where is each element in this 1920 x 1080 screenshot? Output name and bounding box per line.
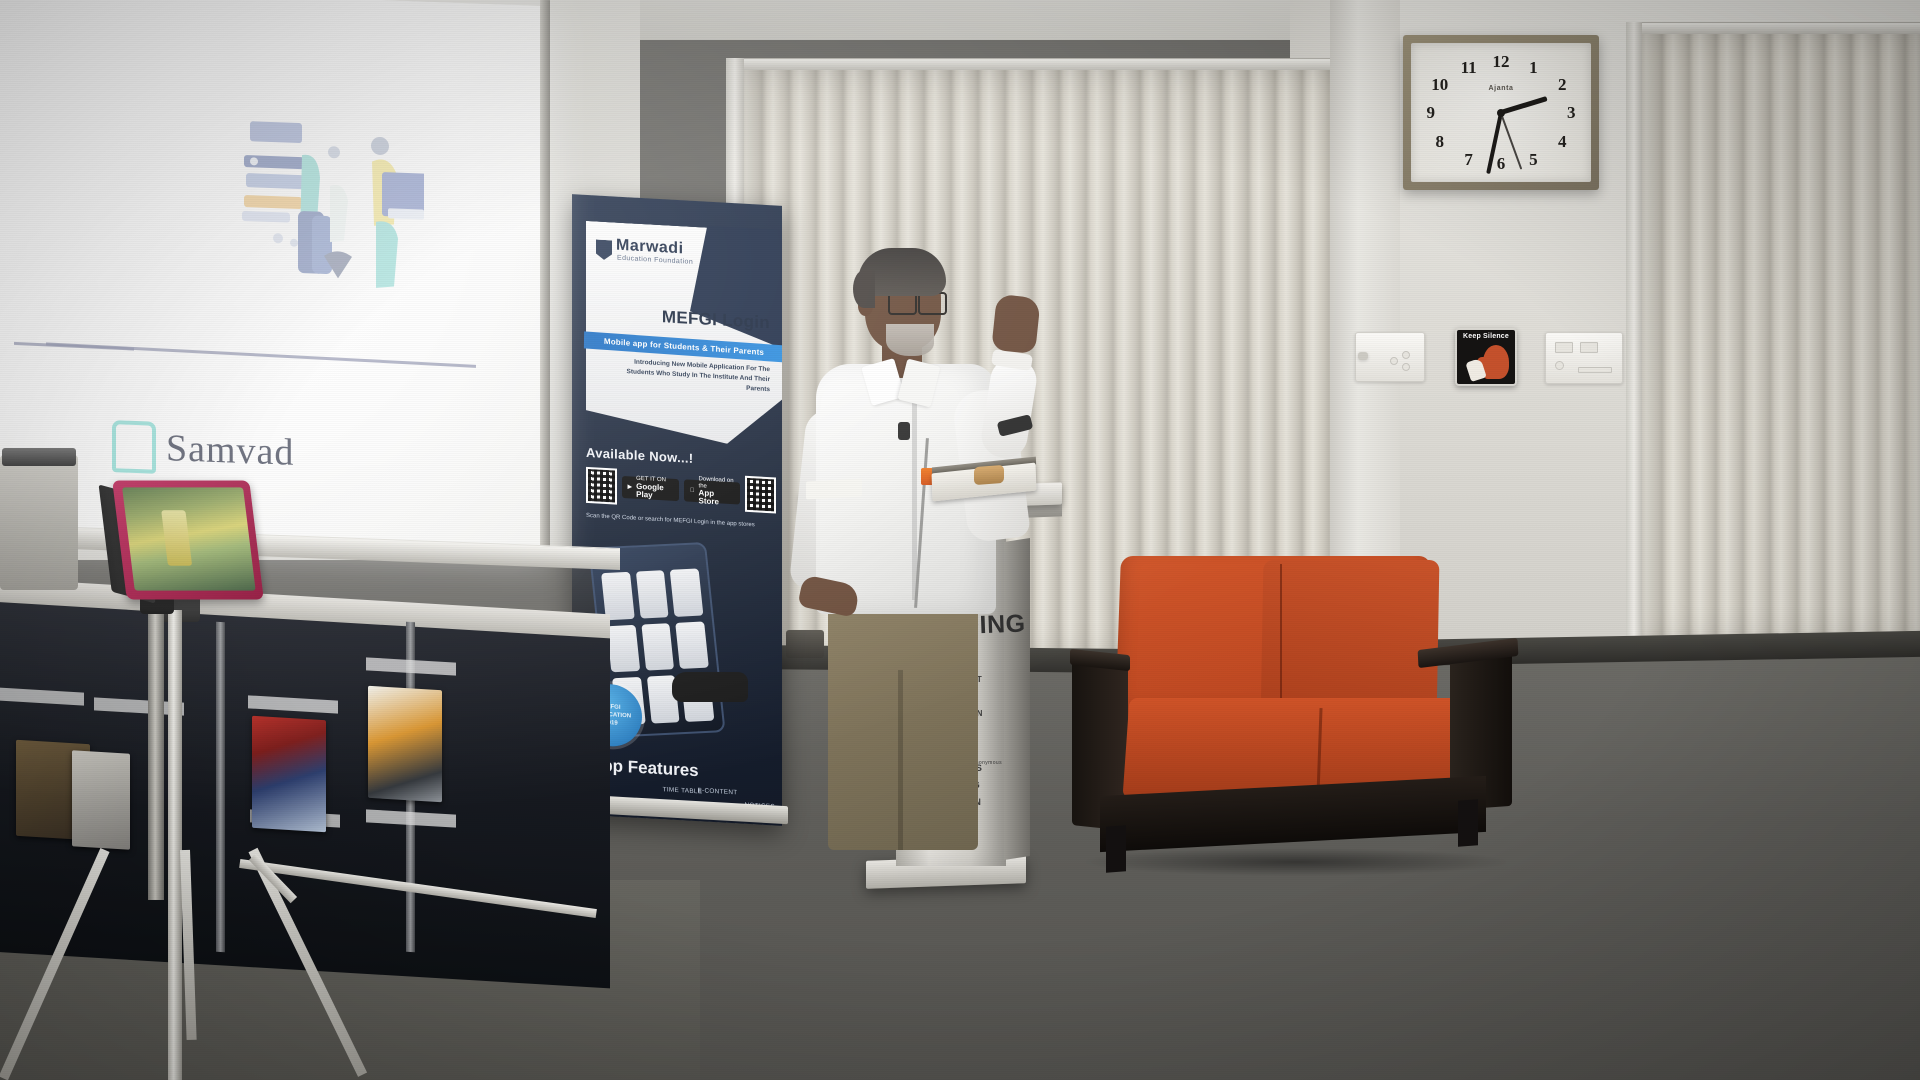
app-icon-home [636,570,669,618]
sofa-leg-right [1458,799,1478,846]
tablet-case-front [112,480,264,599]
store-badges-row: ▶ GET IT ON Google Play  Download on th… [586,467,776,514]
switch-plate-right[interactable] [1545,332,1623,384]
light-switch-1[interactable] [1555,342,1573,353]
magazine-1 [252,716,326,832]
screen-stand-post [168,610,182,1080]
speaker-shoe [672,672,748,702]
tablet-device[interactable] [112,480,264,599]
slide-brand-block: Samvad [112,420,294,479]
clock-numeral-3: 3 [1567,103,1576,123]
clock-numeral-2: 2 [1558,75,1567,95]
banner-available-label: Available Now...! [586,445,693,466]
clock-hour-hand [1500,96,1547,115]
light-switch-3[interactable] [1578,367,1612,373]
clock-numeral-6: 6 [1497,154,1506,174]
tablet-screen[interactable] [122,487,256,590]
clock-numeral-1: 1 [1529,58,1538,78]
blinds-rail-left [740,58,1380,70]
sofa-backrest-seam [1280,564,1282,716]
app-store-big: App Store [699,489,735,508]
clock-numeral-8: 8 [1436,132,1445,152]
dispenser-unit [0,455,78,590]
keep-silence-label: Keep Silence [1457,333,1515,340]
slide-illustration [194,111,424,319]
speaker-trouser-seam [898,670,903,850]
clock-numeral-4: 4 [1558,132,1567,152]
speaker-beard [886,324,934,356]
speaker-person [760,240,1060,860]
socket-hole-b [1402,363,1410,371]
app-store-badge[interactable]:  Download on the App Store [684,479,740,504]
keep-silence-sign: Keep Silence [1455,328,1517,386]
play-triangle-icon: ▶ [628,484,633,491]
window-frame-far-right [1626,22,1642,652]
photo-scene: Ajanta 12 1 2 3 4 5 6 7 8 9 10 11 [0,0,1920,1080]
app-store-small: Download on the [699,477,734,490]
magazine-4 [72,750,130,849]
light-switch-2[interactable] [1580,342,1598,353]
socket-hole-a [1402,351,1410,359]
clock-numeral-7: 7 [1464,150,1473,170]
app-icon-book [670,568,703,616]
podium-papers [806,479,862,500]
app-icon-calendar [641,623,674,671]
wooden-object [974,465,1004,485]
dispenser-unit-top [2,448,76,466]
speaker-hair [858,248,946,296]
apple-logo-icon:  [690,488,695,495]
clock-numeral-10: 10 [1431,75,1448,95]
projection-screen: Samvad [0,0,550,558]
projection-screen-edge [540,0,550,556]
vertical-blinds-right [1640,26,1920,646]
app-icon-bus [676,621,709,669]
lapel-microphone-icon [898,422,910,440]
app-icon-bell [607,625,640,673]
samvad-logo-icon [112,420,156,474]
clock-numeral-12: 12 [1493,52,1510,72]
indicator-dot [1555,361,1564,370]
speaker-right-hand [991,294,1041,354]
blinds-rail-right [1640,22,1920,34]
wall-clock: Ajanta 12 1 2 3 4 5 6 7 8 9 10 11 [1403,35,1599,190]
slide-brand-title: Samvad [166,426,294,475]
clock-numeral-11: 11 [1461,58,1477,78]
qr-code-google [586,467,617,505]
junction-box-marker [1358,352,1368,360]
clock-center-pin [1497,109,1505,117]
clock-numeral-5: 5 [1529,150,1538,170]
clock-face: Ajanta 12 1 2 3 4 5 6 7 8 9 10 11 [1411,43,1591,182]
clock-numeral-9: 9 [1427,103,1436,123]
sofa-leg-left [1106,825,1126,872]
app-icon-timetable [601,572,634,620]
banner-qr-note: Scan the QR Code or search for MEFGI Log… [586,513,781,530]
socket-hole-c [1390,357,1398,365]
google-play-big: Google Play [636,482,673,501]
tablet-stand-post [148,600,164,900]
shelf-divider-1 [216,622,225,953]
clock-brand-label: Ajanta [1489,85,1514,92]
wall-pillar [1330,0,1400,620]
speaker-trousers [828,600,978,850]
google-play-badge[interactable]: ▶ GET IT ON Google Play [622,476,680,501]
sofa-shadow [1086,848,1506,876]
magazine-2 [368,686,442,802]
two-seater-sofa [1066,548,1586,878]
